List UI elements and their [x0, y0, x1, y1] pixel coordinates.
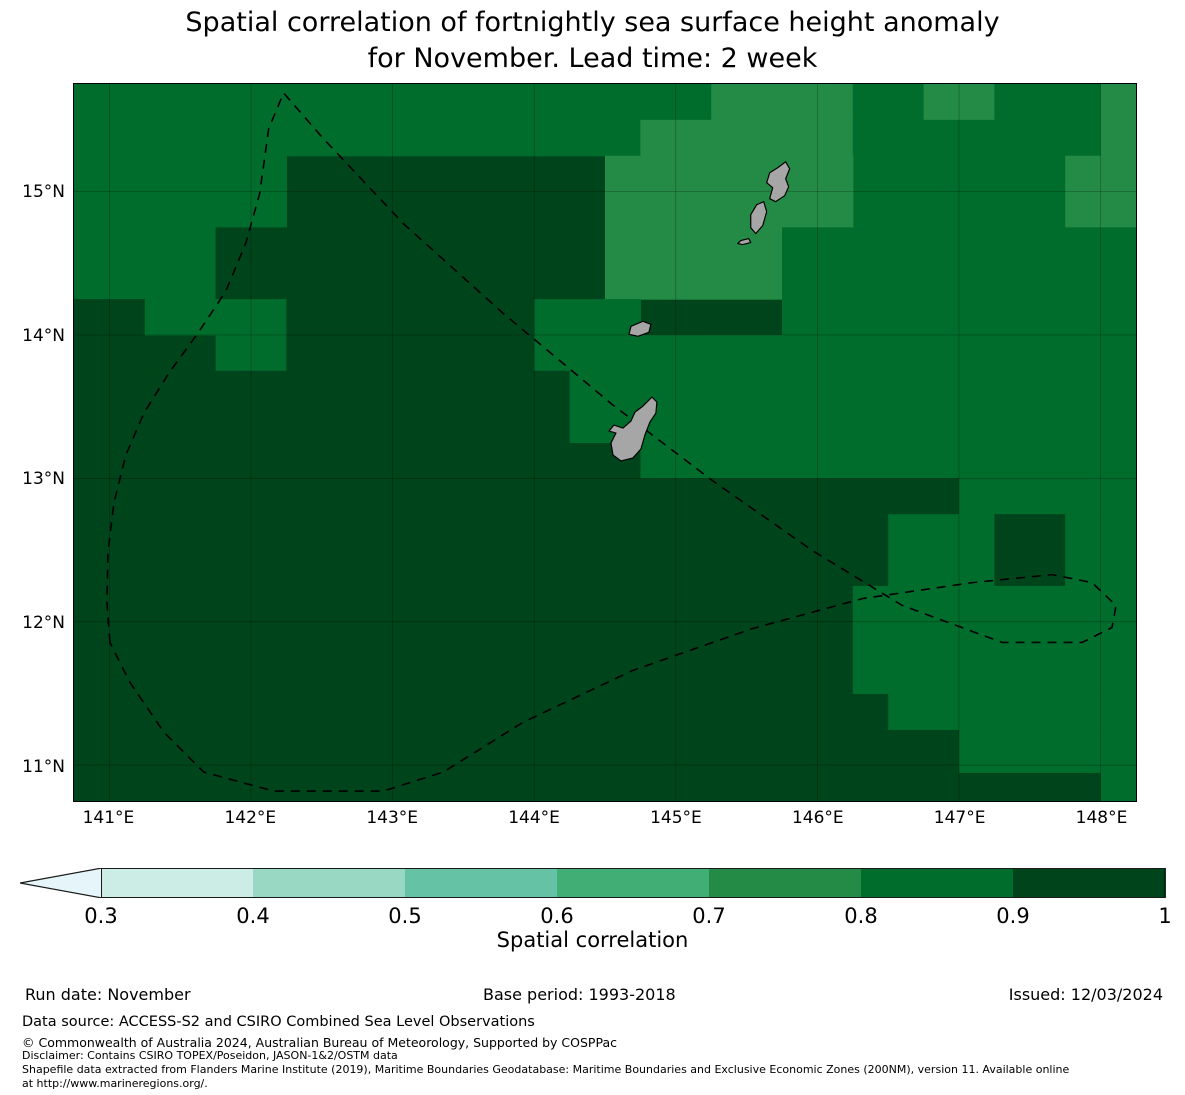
colorbar-tick-label: 0.7	[692, 904, 725, 928]
heatmap-cell	[711, 84, 853, 120]
colorbar-tick-label: 0.8	[844, 904, 877, 928]
colorbar-under-triangle	[20, 868, 102, 898]
colorbar-tick-label: 0.3	[84, 904, 117, 928]
heatmap-cell	[853, 586, 1136, 694]
colorbar-tick-label: 0.5	[388, 904, 421, 928]
heatmap-cell	[888, 478, 959, 514]
colorbar-tick-label: 0.9	[996, 904, 1029, 928]
heatmap-cell	[711, 335, 1136, 479]
map-plot-area[interactable]	[73, 83, 1137, 802]
y-axis-tick-label: 14°N	[0, 326, 65, 346]
page-title: Spatial correlation of fortnightly sea s…	[0, 5, 1185, 77]
run-date: Run date: November	[25, 985, 191, 1004]
copyright-text: © Commonwealth of Australia 2024, Austra…	[22, 1035, 617, 1050]
colorbar-gradient[interactable]	[101, 868, 1165, 898]
x-axis-tick-label: 143°E	[366, 808, 418, 828]
x-axis-tick-label: 147°E	[934, 808, 986, 828]
y-axis-tick-label: 13°N	[0, 469, 65, 489]
heatmap-cell	[1101, 84, 1136, 156]
data-source-text: Data source: ACCESS-S2 and CSIRO Combine…	[22, 1014, 535, 1030]
y-axis-tick-label: 11°N	[0, 757, 65, 777]
x-axis-tick-label: 141°E	[83, 808, 135, 828]
heatmap-cell	[959, 478, 1136, 514]
colorbar-band	[101, 868, 254, 898]
shapefile-credit-line-1: Shapefile data extracted from Flanders M…	[22, 1063, 1069, 1076]
y-axis-tick-label: 12°N	[0, 613, 65, 633]
x-axis-tick-label: 144°E	[508, 808, 560, 828]
title-line-2: for November. Lead time: 2 week	[0, 41, 1185, 77]
heatmap-cell	[994, 84, 1101, 156]
x-axis-tick-label: 148°E	[1076, 808, 1128, 828]
colorbar-axis-label: Spatial correlation	[0, 928, 1185, 952]
heatmap-cell	[605, 227, 783, 299]
colorbar-extend-min-arrow	[20, 868, 102, 898]
metadata-row: Run date: November Base period: 1993-201…	[0, 985, 1185, 1007]
disclaimer-text: Disclaimer: Contains CSIRO TOPEX/Poseido…	[22, 1049, 398, 1062]
colorbar-band	[253, 868, 406, 898]
y-axis-tick-label: 15°N	[0, 182, 65, 202]
map-svg	[74, 84, 1136, 801]
colorbar-band	[861, 868, 1014, 898]
x-axis-tick-label: 142°E	[224, 808, 276, 828]
issued-date: Issued: 12/03/2024	[1009, 985, 1163, 1004]
colorbar-tick-label: 0.4	[236, 904, 269, 928]
heatmap-cell	[145, 299, 216, 335]
title-line-1: Spatial correlation of fortnightly sea s…	[0, 5, 1185, 41]
heatmap-cell	[959, 729, 1101, 773]
base-period: Base period: 1993-2018	[483, 985, 676, 1004]
heatmap-cell	[286, 84, 641, 156]
heatmap-cell	[853, 84, 924, 120]
colorbar-band	[1013, 868, 1166, 898]
shapefile-credit-line-2: at http://www.marineregions.org/.	[22, 1077, 208, 1090]
x-axis-tick-label: 145°E	[650, 808, 702, 828]
heatmap-cell	[216, 227, 606, 299]
colorbar-band	[709, 868, 862, 898]
x-axis-tick-label: 146°E	[792, 808, 844, 828]
colorbar-tick-label: 1	[1158, 904, 1171, 928]
heatmap-cell	[853, 120, 995, 228]
colorbar-region: 0.30.40.50.60.70.80.91	[0, 860, 1185, 970]
colorbar-tick-label: 0.6	[540, 904, 573, 928]
colorbar-band	[405, 868, 558, 898]
heatmap-cell	[888, 514, 995, 586]
heatmap-cell	[74, 478, 889, 801]
heatmap-cell	[888, 693, 1136, 729]
heatmap-cell	[640, 120, 853, 156]
heatmap-cell	[145, 371, 570, 479]
colorbar-band	[557, 868, 710, 898]
